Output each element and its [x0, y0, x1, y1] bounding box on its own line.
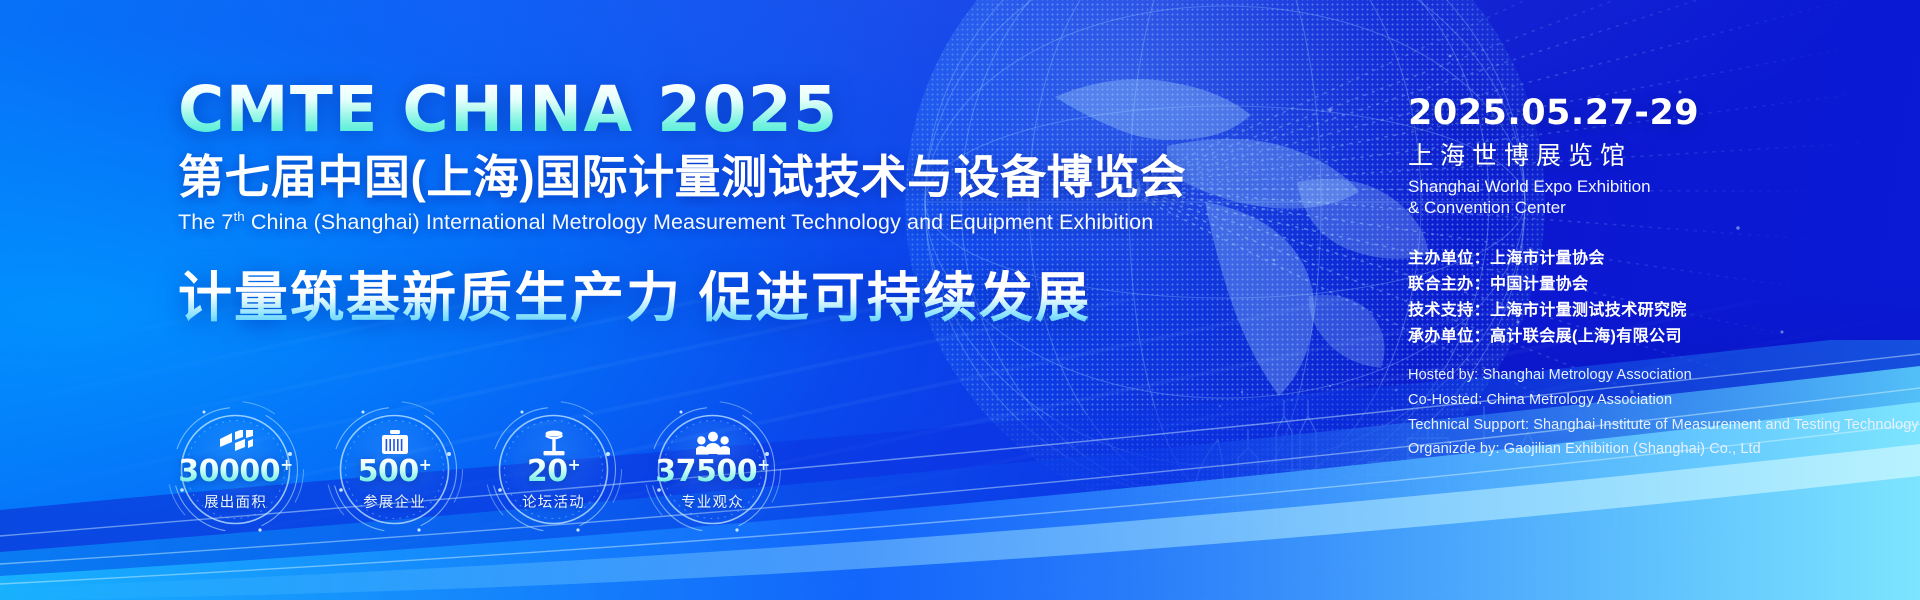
- organizer-cn-host: 主办单位：上海市计量协会: [1408, 246, 1908, 272]
- venue-en-line1: Shanghai World Expo Exhibition: [1408, 176, 1908, 198]
- organizer-cn-support: 技术支持：上海市计量测试技术研究院: [1408, 298, 1908, 324]
- stat-plus: +: [757, 456, 770, 474]
- stat-value: 37500+: [655, 457, 769, 487]
- organizers-en-list: Hosted by: Shanghai Metrology Associatio…: [1408, 363, 1908, 463]
- stat-plus: +: [419, 456, 432, 474]
- event-slogan: 计量筑基新质生产力 促进可持续发展: [178, 270, 1298, 327]
- event-date: 2025.05.27-29: [1408, 96, 1908, 131]
- stat-plus: +: [280, 456, 293, 474]
- stat-label: 论坛活动: [522, 491, 585, 512]
- event-logotype: CMTE CHINA 2025: [178, 78, 1298, 141]
- event-info-block: 2025.05.27-29 上海世博展览馆 Shanghai World Exp…: [1408, 96, 1908, 462]
- briefcase-icon: [381, 428, 409, 456]
- exhibition-banner: CMTE CHINA 2025 第七届中国(上海)国际计量测试技术与设备博览会 …: [0, 0, 1920, 600]
- floor-plan-icon: [219, 428, 253, 456]
- exhibition-title-en: The 7th China (Shanghai) International M…: [178, 209, 1298, 236]
- stat-value: 500+: [358, 457, 432, 487]
- stat-label: 展出面积: [204, 491, 267, 512]
- stat-badge-visitors: 37500+ 专业观众: [655, 412, 770, 527]
- stat-badge-exhibition-area: 30000+ 展出面积: [178, 412, 293, 527]
- organizer-en-cohost: Co-Hosted: China Metrology Association: [1408, 388, 1908, 413]
- organizer-en-support: Technical Support: Shanghai Institute of…: [1408, 413, 1908, 438]
- stat-badge-forums: 20+ 论坛活动: [496, 412, 611, 527]
- ordinal-suffix: th: [233, 209, 244, 224]
- venue-en-line2: & Convention Center: [1408, 197, 1908, 219]
- audience-icon: [696, 428, 730, 456]
- venue-name-cn: 上海世博展览馆: [1408, 143, 1908, 171]
- organizer-cn-cohost: 联合主办：中国计量协会: [1408, 272, 1908, 298]
- organizer-en-host: Hosted by: Shanghai Metrology Associatio…: [1408, 363, 1908, 388]
- stat-number: 37500: [655, 454, 757, 489]
- title-en-suffix: China (Shanghai) International Metrology…: [245, 210, 1153, 234]
- stat-plus: +: [568, 456, 581, 474]
- organizers-cn-list: 主办单位：上海市计量协会 联合主办：中国计量协会 技术支持：上海市计量测试技术研…: [1408, 246, 1908, 350]
- venue-name-en: Shanghai World Expo Exhibition & Convent…: [1408, 176, 1908, 220]
- stat-number: 20: [527, 454, 568, 489]
- exhibition-title-cn: 第七届中国(上海)国际计量测试技术与设备博览会: [178, 153, 1298, 203]
- stat-value: 20+: [527, 457, 580, 487]
- statistics-row: 30000+ 展出面积: [178, 412, 770, 527]
- stat-label: 专业观众: [681, 491, 744, 512]
- organizer-en-organizer: Organizde by: Gaojilian Exhibition (Shan…: [1408, 437, 1908, 462]
- stat-label: 参展企业: [363, 491, 426, 512]
- stat-number: 500: [358, 454, 419, 489]
- stat-number: 30000: [178, 454, 280, 489]
- stat-badge-exhibitors: 500+ 参展企业: [337, 412, 452, 527]
- headline-block: CMTE CHINA 2025 第七届中国(上海)国际计量测试技术与设备博览会 …: [178, 78, 1298, 327]
- podium-icon: [540, 428, 568, 456]
- stat-value: 30000+: [178, 457, 292, 487]
- title-en-prefix: The 7: [178, 210, 233, 234]
- organizer-cn-organizer: 承办单位：高计联会展(上海)有限公司: [1408, 324, 1908, 350]
